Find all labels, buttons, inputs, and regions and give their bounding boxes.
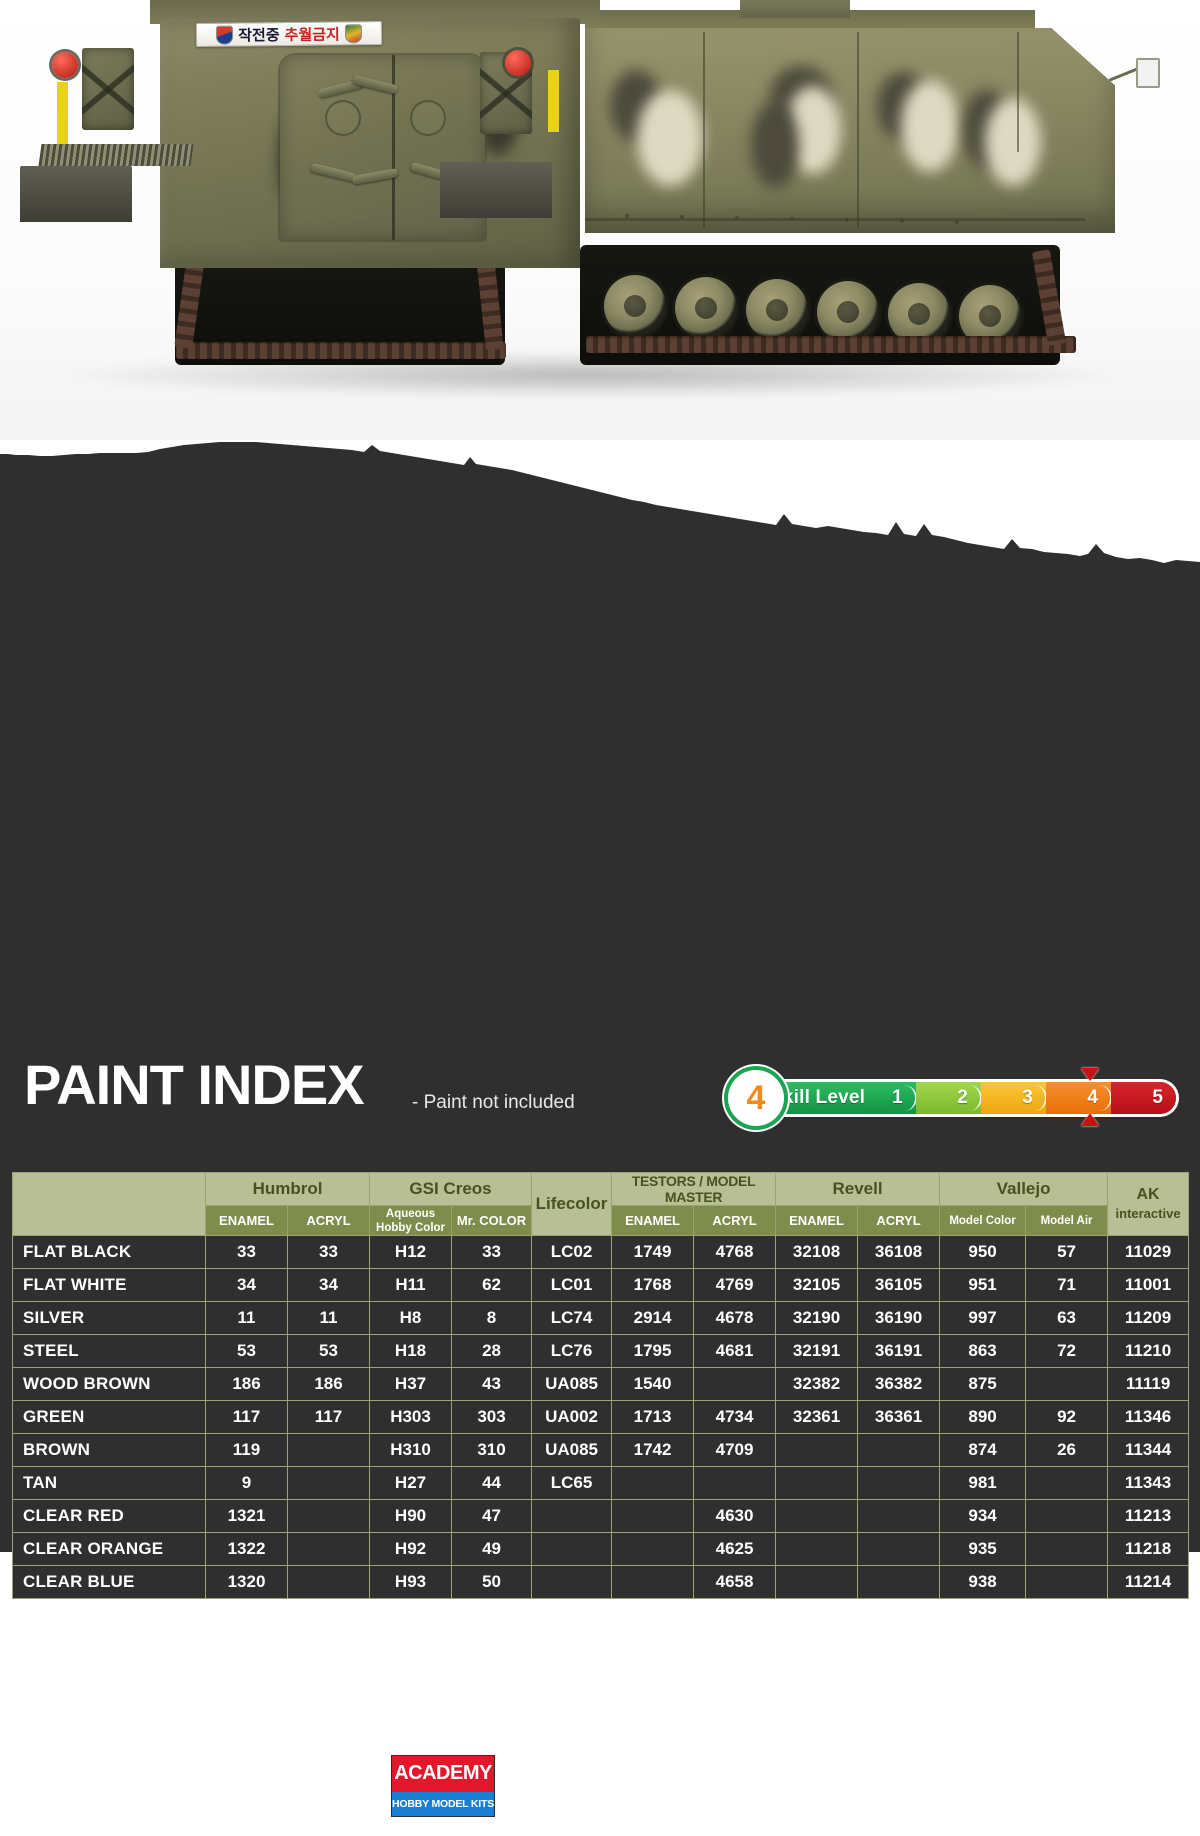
cell-humbrol-acryl: 33 xyxy=(288,1236,370,1269)
roadwheel xyxy=(817,281,879,343)
cell-gsi-mrcolor: 33 xyxy=(452,1236,532,1269)
header-testors-acryl: ACRYL xyxy=(694,1206,776,1236)
cell-ak: 11119 xyxy=(1108,1368,1189,1401)
cell-humbrol-enamel: 1320 xyxy=(206,1566,288,1599)
hull-panel-line xyxy=(703,32,705,228)
cell-gsi-aqueous: H37 xyxy=(370,1368,452,1401)
skill-segment-number: 3 xyxy=(1022,1087,1033,1109)
cell-color-name: BROWN xyxy=(13,1434,206,1467)
hull-rivet xyxy=(900,219,904,223)
table-row: WOOD BROWN186186H3743UA08515403238236382… xyxy=(13,1368,1189,1401)
cell-testors-enamel: 1795 xyxy=(612,1335,694,1368)
cell-revell-enamel xyxy=(776,1566,858,1599)
cell-humbrol-acryl: 53 xyxy=(288,1335,370,1368)
cell-testors-enamel: 1742 xyxy=(612,1434,694,1467)
cell-color-name: FLAT BLACK xyxy=(13,1236,206,1269)
tail-light xyxy=(505,50,531,76)
cell-vallejo-model-air xyxy=(1026,1500,1108,1533)
table-row: TAN9H2744LC6598111343 xyxy=(13,1467,1189,1500)
camo-patch xyxy=(751,102,799,188)
cell-revell-acryl: 36190 xyxy=(858,1302,940,1335)
cell-gsi-aqueous: H18 xyxy=(370,1335,452,1368)
skill-segment-2: 2 xyxy=(916,1082,981,1114)
track-run-left xyxy=(176,342,506,359)
cell-gsi-mrcolor: 44 xyxy=(452,1467,532,1500)
cell-vallejo-model-air xyxy=(1026,1368,1108,1401)
cell-humbrol-acryl: 11 xyxy=(288,1302,370,1335)
torn-paper-edge xyxy=(0,440,1200,580)
cell-revell-enamel: 32108 xyxy=(776,1236,858,1269)
cell-gsi-mrcolor: 62 xyxy=(452,1269,532,1302)
header-group-lifecolor: Lifecolor xyxy=(532,1173,612,1236)
cell-testors-enamel: 1713 xyxy=(612,1401,694,1434)
cell-testors-acryl xyxy=(694,1368,776,1401)
cell-vallejo-model-air: 71 xyxy=(1026,1269,1108,1302)
hull-rivet xyxy=(680,215,684,219)
cell-vallejo-model-air xyxy=(1026,1566,1108,1599)
cell-revell-enamel: 32190 xyxy=(776,1302,858,1335)
yellow-marker-stripe xyxy=(548,70,559,132)
rear-grate xyxy=(38,144,193,166)
cell-gsi-aqueous: H8 xyxy=(370,1302,452,1335)
cell-testors-acryl: 4658 xyxy=(694,1566,776,1599)
cell-color-name: GREEN xyxy=(13,1401,206,1434)
cell-humbrol-enamel: 34 xyxy=(206,1269,288,1302)
header-ak-main: AK xyxy=(1136,1186,1159,1203)
cell-color-name: CLEAR RED xyxy=(13,1500,206,1533)
track-run-right xyxy=(586,336,1076,353)
cell-revell-enamel xyxy=(776,1467,858,1500)
cell-vallejo-model-color: 935 xyxy=(940,1533,1026,1566)
cell-ak: 11213 xyxy=(1108,1500,1189,1533)
cell-humbrol-enamel: 11 xyxy=(206,1302,288,1335)
cell-revell-enamel: 32105 xyxy=(776,1269,858,1302)
cell-lifecolor xyxy=(532,1500,612,1533)
cell-humbrol-enamel: 9 xyxy=(206,1467,288,1500)
skill-marker-bottom-icon xyxy=(1081,1113,1099,1126)
cell-humbrol-enamel: 119 xyxy=(206,1434,288,1467)
table-header: Humbrol GSI Creos Lifecolor TESTORS / MO… xyxy=(13,1173,1189,1236)
cell-vallejo-model-air: 92 xyxy=(1026,1401,1108,1434)
cell-revell-enamel xyxy=(776,1500,858,1533)
cell-testors-acryl xyxy=(694,1467,776,1500)
roadwheel xyxy=(746,279,808,341)
cell-humbrol-acryl xyxy=(288,1566,370,1599)
cell-gsi-mrcolor: 49 xyxy=(452,1533,532,1566)
cell-revell-acryl xyxy=(858,1533,940,1566)
cell-lifecolor: LC02 xyxy=(532,1236,612,1269)
cell-lifecolor: LC01 xyxy=(532,1269,612,1302)
cell-revell-acryl xyxy=(858,1434,940,1467)
header-gsi-aqueous: Aqueous Hobby Color xyxy=(370,1206,452,1236)
cell-revell-acryl: 36191 xyxy=(858,1335,940,1368)
table-row: CLEAR ORANGE1322H9249462593511218 xyxy=(13,1533,1189,1566)
cell-lifecolor: UA085 xyxy=(532,1434,612,1467)
cell-ak: 11344 xyxy=(1108,1434,1189,1467)
roadwheel xyxy=(675,277,737,339)
jerrycan-brace xyxy=(82,48,134,130)
unit-shield-emblem-icon xyxy=(216,25,233,44)
header-ak-sub: interactive xyxy=(1110,1204,1186,1223)
cell-revell-enamel xyxy=(776,1434,858,1467)
cell-testors-enamel: 1768 xyxy=(612,1269,694,1302)
cell-gsi-aqueous: H92 xyxy=(370,1533,452,1566)
hull-panel-line xyxy=(857,32,859,228)
cell-gsi-aqueous: H90 xyxy=(370,1500,452,1533)
cell-ak: 11214 xyxy=(1108,1566,1189,1599)
cell-gsi-aqueous: H303 xyxy=(370,1401,452,1434)
cell-color-name: SILVER xyxy=(13,1302,206,1335)
page-title: PAINT INDEX xyxy=(24,1054,364,1116)
cell-gsi-aqueous: H11 xyxy=(370,1269,452,1302)
header-group-testors: TESTORS / MODEL MASTER xyxy=(612,1173,776,1206)
cell-gsi-mrcolor: 28 xyxy=(452,1335,532,1368)
dark-content-panel: PAINT INDEX - Paint not included Skill L… xyxy=(0,440,1200,1552)
skill-segment-number: 4 xyxy=(1087,1087,1098,1109)
table-header-row-groups: Humbrol GSI Creos Lifecolor TESTORS / MO… xyxy=(13,1173,1189,1206)
cell-testors-acryl: 4678 xyxy=(694,1302,776,1335)
cell-revell-acryl: 36382 xyxy=(858,1368,940,1401)
cell-color-name: TAN xyxy=(13,1467,206,1500)
cell-vallejo-model-color: 997 xyxy=(940,1302,1026,1335)
cell-revell-enamel xyxy=(776,1533,858,1566)
cell-humbrol-acryl xyxy=(288,1500,370,1533)
jerrycan-stowage xyxy=(82,48,134,130)
cell-humbrol-acryl xyxy=(288,1467,370,1500)
cell-gsi-aqueous: H12 xyxy=(370,1236,452,1269)
cell-lifecolor: UA002 xyxy=(532,1401,612,1434)
table-row: STEEL5353H1828LC761795468132191361918637… xyxy=(13,1335,1189,1368)
door-seam xyxy=(392,55,395,240)
cell-testors-enamel: 1749 xyxy=(612,1236,694,1269)
cell-testors-acryl: 4630 xyxy=(694,1500,776,1533)
cell-gsi-mrcolor: 8 xyxy=(452,1302,532,1335)
cell-gsi-mrcolor: 310 xyxy=(452,1434,532,1467)
cell-lifecolor: LC74 xyxy=(532,1302,612,1335)
cell-vallejo-model-air: 72 xyxy=(1026,1335,1108,1368)
header-revell-enamel: ENAMEL xyxy=(776,1206,858,1236)
cell-testors-enamel xyxy=(612,1467,694,1500)
skill-segment-number: 1 xyxy=(892,1087,903,1109)
cell-vallejo-model-color: 981 xyxy=(940,1467,1026,1500)
cell-gsi-mrcolor: 47 xyxy=(452,1500,532,1533)
cell-gsi-aqueous: H310 xyxy=(370,1434,452,1467)
hull-rivet xyxy=(845,218,849,222)
skill-marker-top-icon xyxy=(1081,1068,1099,1081)
academy-badge-top: ACADEMY xyxy=(392,1756,494,1792)
cell-vallejo-model-air: 26 xyxy=(1026,1434,1108,1467)
skill-level-current: 4 xyxy=(728,1070,784,1126)
cell-revell-enamel: 32361 xyxy=(776,1401,858,1434)
cell-revell-acryl xyxy=(858,1467,940,1500)
product-photo: 작전중 추월금지 xyxy=(0,0,1200,470)
door-vision-port xyxy=(325,100,361,136)
camo-patch xyxy=(985,98,1041,186)
hull-panel-line xyxy=(1017,32,1019,152)
cell-revell-enamel: 32191 xyxy=(776,1335,858,1368)
cell-gsi-mrcolor: 43 xyxy=(452,1368,532,1401)
cell-color-name: CLEAR BLUE xyxy=(13,1566,206,1599)
cell-testors-enamel xyxy=(612,1500,694,1533)
cell-testors-acryl: 4625 xyxy=(694,1533,776,1566)
cell-color-name: WOOD BROWN xyxy=(13,1368,206,1401)
cell-gsi-mrcolor: 303 xyxy=(452,1401,532,1434)
academy-badge: ACADEMY HOBBY MODEL KITS xyxy=(391,1755,495,1817)
cell-humbrol-enamel: 117 xyxy=(206,1401,288,1434)
table-row: CLEAR BLUE1320H9350465893811214 xyxy=(13,1566,1189,1599)
table-body: FLAT BLACK3333H1233LC0217494768321083610… xyxy=(13,1236,1189,1599)
cell-vallejo-model-air: 63 xyxy=(1026,1302,1108,1335)
skill-segment-number: 2 xyxy=(957,1087,968,1109)
tail-light xyxy=(52,52,78,78)
cell-ak: 11210 xyxy=(1108,1335,1189,1368)
academy-badge-bottom: HOBBY MODEL KITS xyxy=(392,1792,494,1816)
cell-revell-acryl: 36108 xyxy=(858,1236,940,1269)
academy-company-name: ACADEMY PLASTIC MODEL CO., LTD. xyxy=(517,1803,809,1820)
hull-side-camo xyxy=(585,28,1115,233)
cell-vallejo-model-air xyxy=(1026,1533,1108,1566)
korean-warning-placard: 작전중 추월금지 xyxy=(196,21,382,47)
header-group-vallejo: Vallejo xyxy=(940,1173,1108,1206)
header-gsi-mrcolor: Mr. COLOR xyxy=(452,1206,532,1236)
header-color xyxy=(13,1173,206,1236)
skill-segment-number: 5 xyxy=(1152,1087,1163,1109)
cell-ak: 11029 xyxy=(1108,1236,1189,1269)
header-group-revell: Revell xyxy=(776,1173,940,1206)
cell-testors-enamel: 2914 xyxy=(612,1302,694,1335)
skill-level-badge: Skill Level 1 2 3 4 5 4 xyxy=(728,1066,1180,1128)
header-gsi-aqueous-line1: Aqueous xyxy=(386,1208,435,1220)
header-group-gsi-creos: GSI Creos xyxy=(370,1173,532,1206)
table-row: FLAT BLACK3333H1233LC0217494768321083610… xyxy=(13,1236,1189,1269)
cell-humbrol-acryl: 117 xyxy=(288,1401,370,1434)
placard-left-text: 작전중 xyxy=(238,24,280,45)
cell-humbrol-enamel: 33 xyxy=(206,1236,288,1269)
skill-level-bar: Skill Level 1 2 3 4 5 xyxy=(758,1082,1176,1114)
cell-humbrol-enamel: 186 xyxy=(206,1368,288,1401)
rear-fender-right xyxy=(440,162,552,218)
cell-ak: 11001 xyxy=(1108,1269,1189,1302)
cell-testors-enamel xyxy=(612,1566,694,1599)
cell-vallejo-model-color: 890 xyxy=(940,1401,1026,1434)
cell-testors-acryl: 4681 xyxy=(694,1335,776,1368)
cell-ak: 11209 xyxy=(1108,1302,1189,1335)
cell-testors-acryl: 4768 xyxy=(694,1236,776,1269)
academy-wordmark: ACADEMY ACADEMY PLASTIC MODEL CO., LTD. xyxy=(517,1752,809,1820)
turret-stub xyxy=(740,0,850,18)
cell-color-name: CLEAR ORANGE xyxy=(13,1533,206,1566)
header-gsi-aqueous-line2: Hobby Color xyxy=(376,1222,445,1234)
header-group-ak: AK interactive xyxy=(1108,1173,1189,1236)
cell-revell-acryl xyxy=(858,1566,940,1599)
skill-segment-5: 5 xyxy=(1111,1082,1176,1114)
table-row: BROWN119H310310UA085174247098742611344 xyxy=(13,1434,1189,1467)
header-revell-acryl: ACRYL xyxy=(858,1206,940,1236)
cell-ak: 11343 xyxy=(1108,1467,1189,1500)
header-humbrol-enamel: ENAMEL xyxy=(206,1206,288,1236)
cell-color-name: FLAT WHITE xyxy=(13,1269,206,1302)
cell-vallejo-model-color: 875 xyxy=(940,1368,1026,1401)
hull-rivet xyxy=(790,217,794,221)
cell-revell-acryl xyxy=(858,1500,940,1533)
paint-index-table: Humbrol GSI Creos Lifecolor TESTORS / MO… xyxy=(12,1172,1189,1599)
header-vallejo-model-air: Model Air xyxy=(1026,1206,1108,1236)
table-row: FLAT WHITE3434H1162LC0117684769321053610… xyxy=(13,1269,1189,1302)
cell-vallejo-model-air xyxy=(1026,1467,1108,1500)
cell-testors-acryl: 4769 xyxy=(694,1269,776,1302)
rearview-mirror xyxy=(1136,58,1160,88)
cell-vallejo-model-color: 938 xyxy=(940,1566,1026,1599)
placard-right-text: 추월금지 xyxy=(284,23,339,45)
cell-revell-acryl: 36105 xyxy=(858,1269,940,1302)
cell-ak: 11218 xyxy=(1108,1533,1189,1566)
header-testors-enamel: ENAMEL xyxy=(612,1206,694,1236)
cell-humbrol-acryl: 34 xyxy=(288,1269,370,1302)
academy-wordmark-text: ACADEMY xyxy=(517,1752,796,1802)
cell-lifecolor: UA085 xyxy=(532,1368,612,1401)
academy-logo: ACADEMY HOBBY MODEL KITS ACADEMY ACADEMY… xyxy=(0,1736,1200,1836)
cell-gsi-mrcolor: 50 xyxy=(452,1566,532,1599)
cell-humbrol-enamel: 1322 xyxy=(206,1533,288,1566)
cell-testors-acryl: 4709 xyxy=(694,1434,776,1467)
table-row: SILVER1111H88LC7429144678321903619099763… xyxy=(13,1302,1189,1335)
cell-vallejo-model-color: 934 xyxy=(940,1500,1026,1533)
skill-segment-3: 3 xyxy=(981,1082,1046,1114)
paint-not-included-note: - Paint not included xyxy=(412,1092,575,1114)
header-vallejo-model-color: Model Color xyxy=(940,1206,1026,1236)
hull-lower-edge xyxy=(585,218,1085,221)
skill-level-label: Skill Level xyxy=(770,1087,865,1109)
skill-segment-4: 4 xyxy=(1046,1082,1111,1114)
cell-humbrol-acryl: 186 xyxy=(288,1368,370,1401)
cell-testors-enamel xyxy=(612,1533,694,1566)
table-row: CLEAR RED1321H9047463093411213 xyxy=(13,1500,1189,1533)
camo-patch xyxy=(901,80,959,172)
cell-vallejo-model-color: 863 xyxy=(940,1335,1026,1368)
cell-ak: 11346 xyxy=(1108,1401,1189,1434)
door-vision-port xyxy=(410,100,446,136)
roadwheel xyxy=(604,275,666,337)
hull-rivet xyxy=(955,220,959,224)
cell-lifecolor: LC76 xyxy=(532,1335,612,1368)
cell-humbrol-enamel: 53 xyxy=(206,1335,288,1368)
hull-rivet xyxy=(735,216,739,220)
cell-lifecolor xyxy=(532,1533,612,1566)
cell-color-name: STEEL xyxy=(13,1335,206,1368)
cell-humbrol-enamel: 1321 xyxy=(206,1500,288,1533)
header-humbrol-acryl: ACRYL xyxy=(288,1206,370,1236)
cell-testors-enamel: 1540 xyxy=(612,1368,694,1401)
cell-humbrol-acryl xyxy=(288,1434,370,1467)
rear-fender-left xyxy=(20,166,132,222)
cell-vallejo-model-color: 874 xyxy=(940,1434,1026,1467)
header-group-humbrol: Humbrol xyxy=(206,1173,370,1206)
hull-rivet xyxy=(625,214,629,218)
table-row: GREEN117117H303303UA00217134734323613636… xyxy=(13,1401,1189,1434)
cell-testors-acryl: 4734 xyxy=(694,1401,776,1434)
cell-vallejo-model-air: 57 xyxy=(1026,1236,1108,1269)
cell-vallejo-model-color: 951 xyxy=(940,1269,1026,1302)
cell-revell-acryl: 36361 xyxy=(858,1401,940,1434)
cell-lifecolor: LC65 xyxy=(532,1467,612,1500)
cell-humbrol-acryl xyxy=(288,1533,370,1566)
cell-vallejo-model-color: 950 xyxy=(940,1236,1026,1269)
cell-gsi-aqueous: H93 xyxy=(370,1566,452,1599)
division-shield-emblem-icon xyxy=(345,24,362,43)
cell-gsi-aqueous: H27 xyxy=(370,1467,452,1500)
cell-revell-enamel: 32382 xyxy=(776,1368,858,1401)
cell-lifecolor xyxy=(532,1566,612,1599)
camo-patch xyxy=(637,90,703,186)
yellow-marker-stripe xyxy=(57,82,68,144)
